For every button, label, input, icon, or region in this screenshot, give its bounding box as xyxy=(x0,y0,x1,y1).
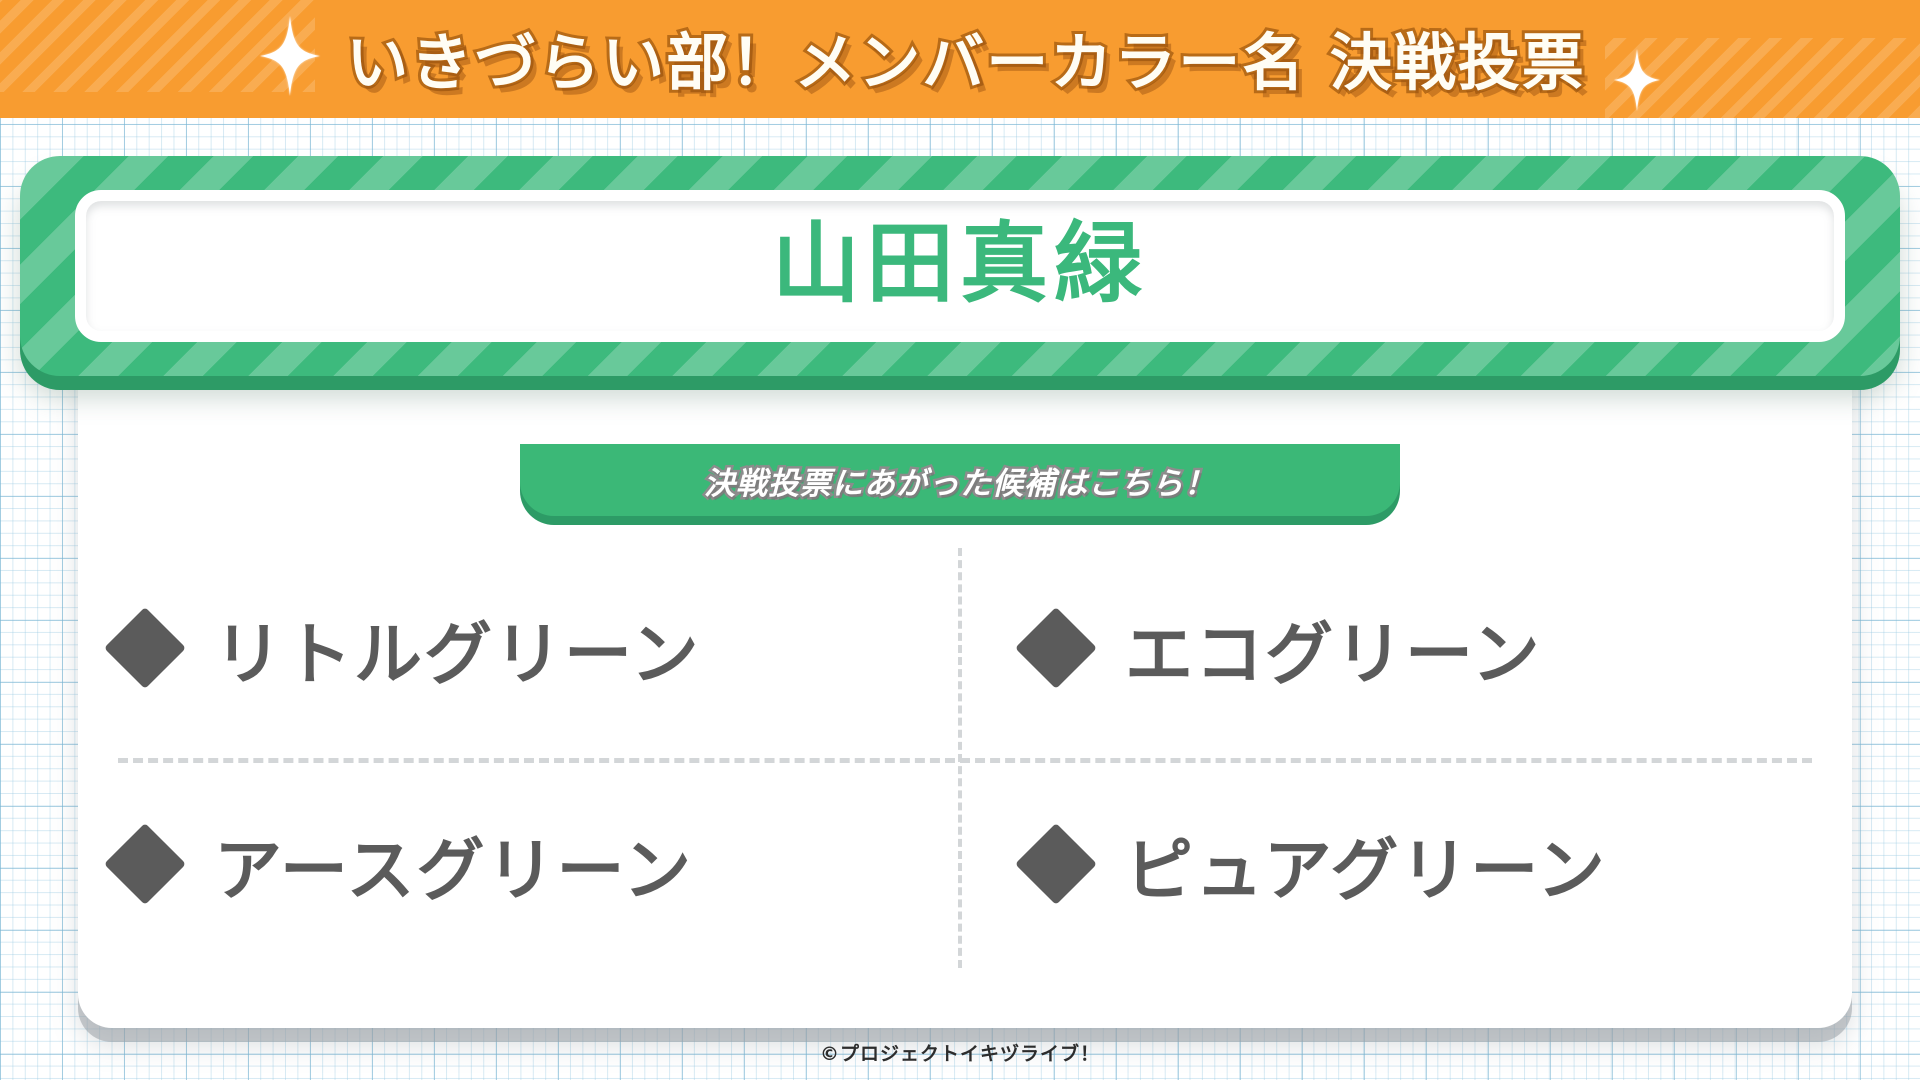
candidates-tab: 決戦投票にあがった候補はこちら！ xyxy=(520,444,1400,516)
candidate-option-3[interactable]: アースグリーン xyxy=(78,756,965,972)
candidates-tab-label: 決戦投票にあがった候補はこちら！ xyxy=(704,458,1216,503)
candidate-label: エコグリーン xyxy=(1125,599,1542,698)
candidate-option-2[interactable]: エコグリーン xyxy=(965,540,1852,756)
page-title: いきづらい部！メンバーカラー名 決戦投票 xyxy=(346,12,1586,102)
copyright-text: ©プロジェクトイキヅライブ！ xyxy=(820,1043,1100,1065)
header-bar: いきづらい部！メンバーカラー名 決戦投票 xyxy=(0,0,1920,118)
diamond-icon xyxy=(1015,607,1097,689)
diamond-icon xyxy=(104,823,186,905)
candidate-option-4[interactable]: ピュアグリーン xyxy=(965,756,1852,972)
member-name-banner: 山田真緑 xyxy=(20,156,1900,376)
footer: ©プロジェクトイキヅライブ！ xyxy=(0,1039,1920,1066)
candidate-label: ピュアグリーン xyxy=(1125,815,1607,914)
member-name: 山田真緑 xyxy=(772,220,1148,308)
diamond-icon xyxy=(1015,823,1097,905)
candidate-option-1[interactable]: リトルグリーン xyxy=(78,540,965,756)
poll-screen: いきづらい部！メンバーカラー名 決戦投票 山田真緑 決戦投票にあがった候補はこち… xyxy=(0,0,1920,1080)
sparkle-icon xyxy=(1614,49,1660,111)
candidates-grid: リトルグリーン エコグリーン アースグリーン ピュアグリーン xyxy=(78,540,1852,972)
sparkle-icon xyxy=(260,16,320,96)
diamond-icon xyxy=(104,607,186,689)
member-name-plate: 山田真緑 xyxy=(75,190,1845,342)
candidate-label: アースグリーン xyxy=(214,815,693,914)
candidate-label: リトルグリーン xyxy=(214,599,701,698)
